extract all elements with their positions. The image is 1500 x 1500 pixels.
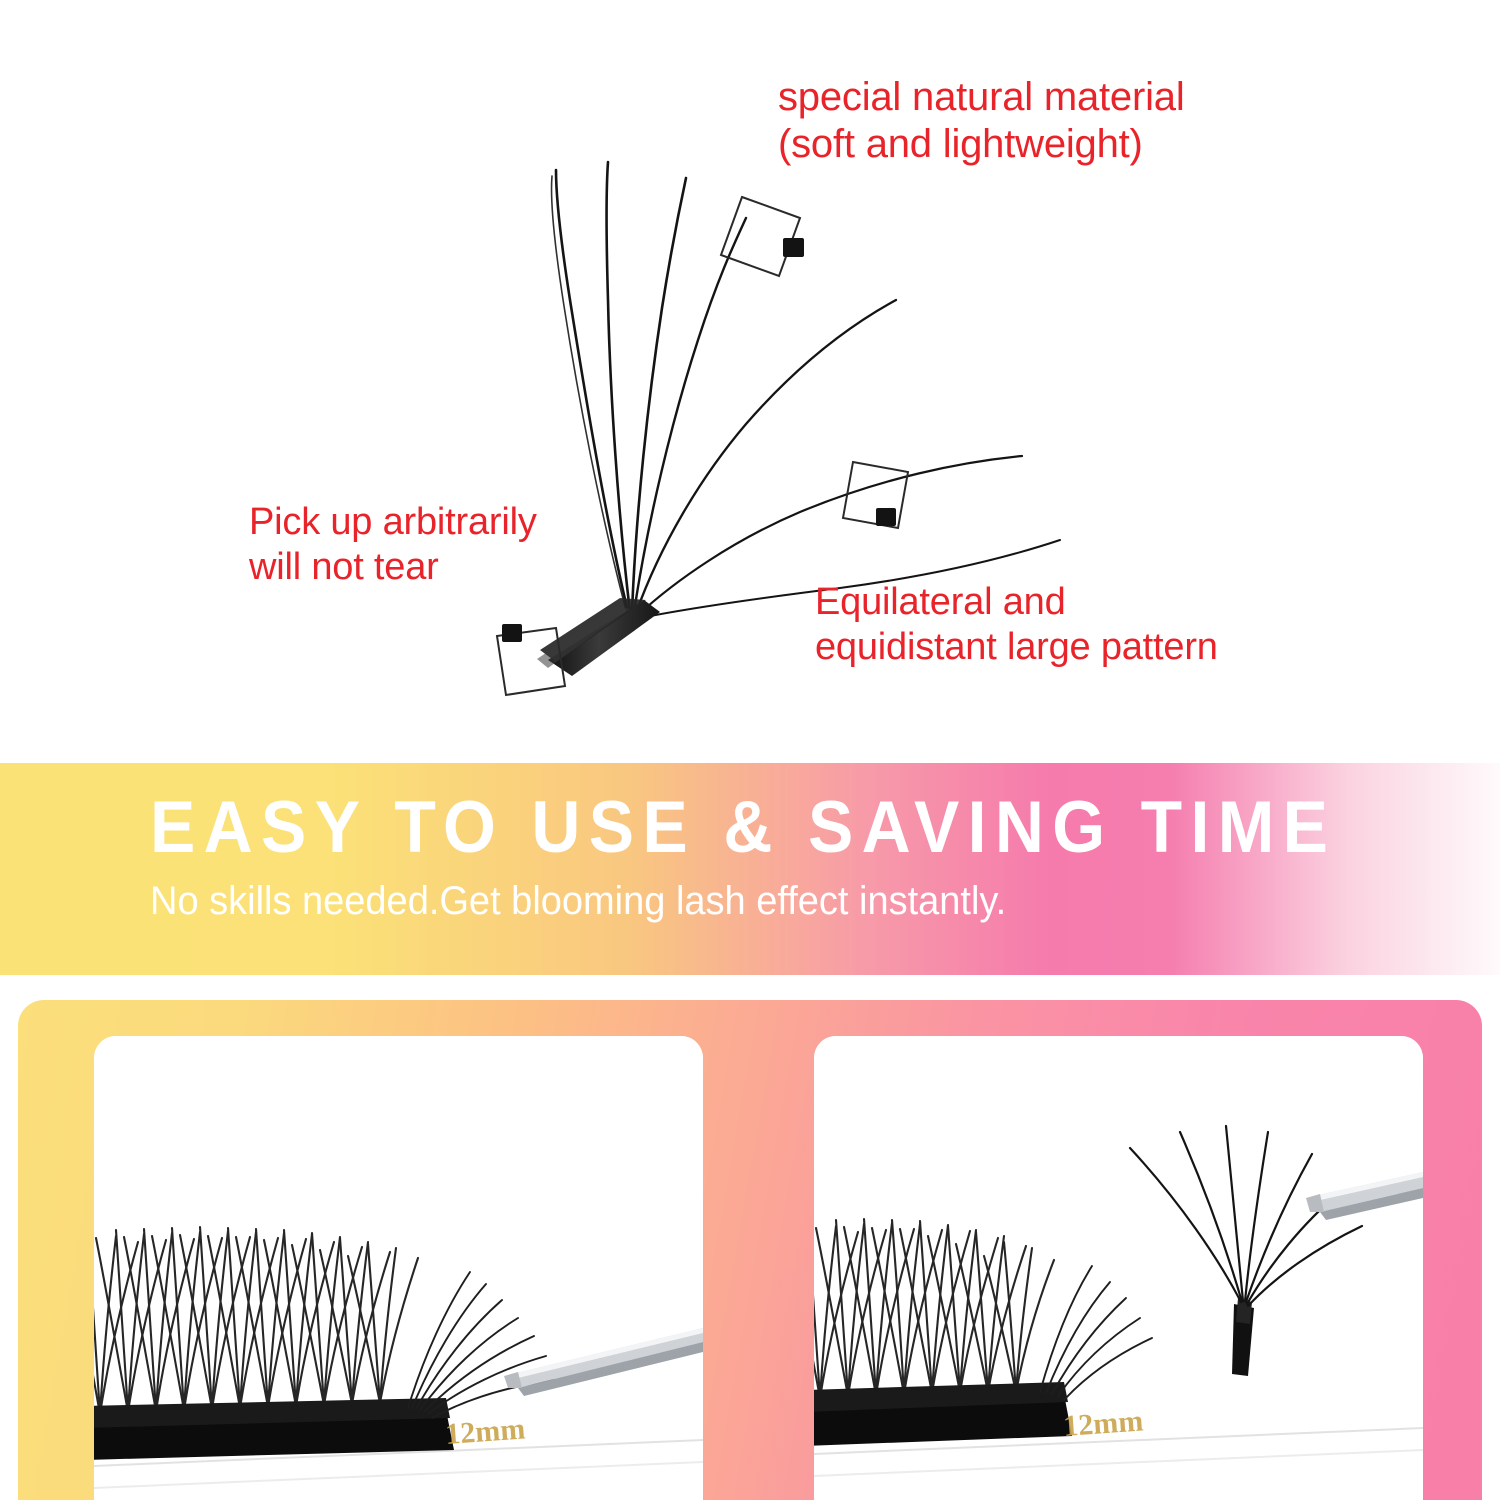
banner-subheadline: No skills needed.Get blooming lash effec…	[150, 879, 1347, 924]
photo-card-lash-tray: 12mm 12mm	[94, 1036, 703, 1500]
photo-band: 12mm 12mm	[18, 1000, 1482, 1500]
callout-special-natural-material: special natural material (soft and light…	[778, 74, 1185, 168]
svg-text:12mm: 12mm	[1062, 1404, 1144, 1442]
hero-section: special natural material (soft and light…	[0, 0, 1500, 763]
feature-banner: EASY TO USE & SAVING TIME No skills need…	[0, 763, 1500, 975]
marker-square-top	[721, 197, 804, 276]
tray-size-label: 12mm	[444, 1412, 526, 1450]
lash-fan-diagram	[0, 0, 1500, 763]
svg-text:12mm: 12mm	[444, 1412, 526, 1450]
marker-square-right	[843, 462, 908, 528]
callout-pick-up-arbitrarily: Pick up arbitrarily will not tear	[249, 500, 537, 590]
lash-tray-photo: 12mm	[94, 1036, 703, 1500]
callout-equilateral-equidistant: Equilateral and equidistant large patter…	[815, 580, 1218, 670]
banner-text-block: EASY TO USE & SAVING TIME No skills need…	[150, 791, 1410, 924]
banner-headline: EASY TO USE & SAVING TIME	[150, 791, 1322, 865]
tray-size-label: 12mm	[1062, 1404, 1144, 1442]
lash-fan-photo: 12mm	[814, 1036, 1423, 1500]
photo-card-lash-fan: 12mm 12mm	[814, 1036, 1423, 1500]
